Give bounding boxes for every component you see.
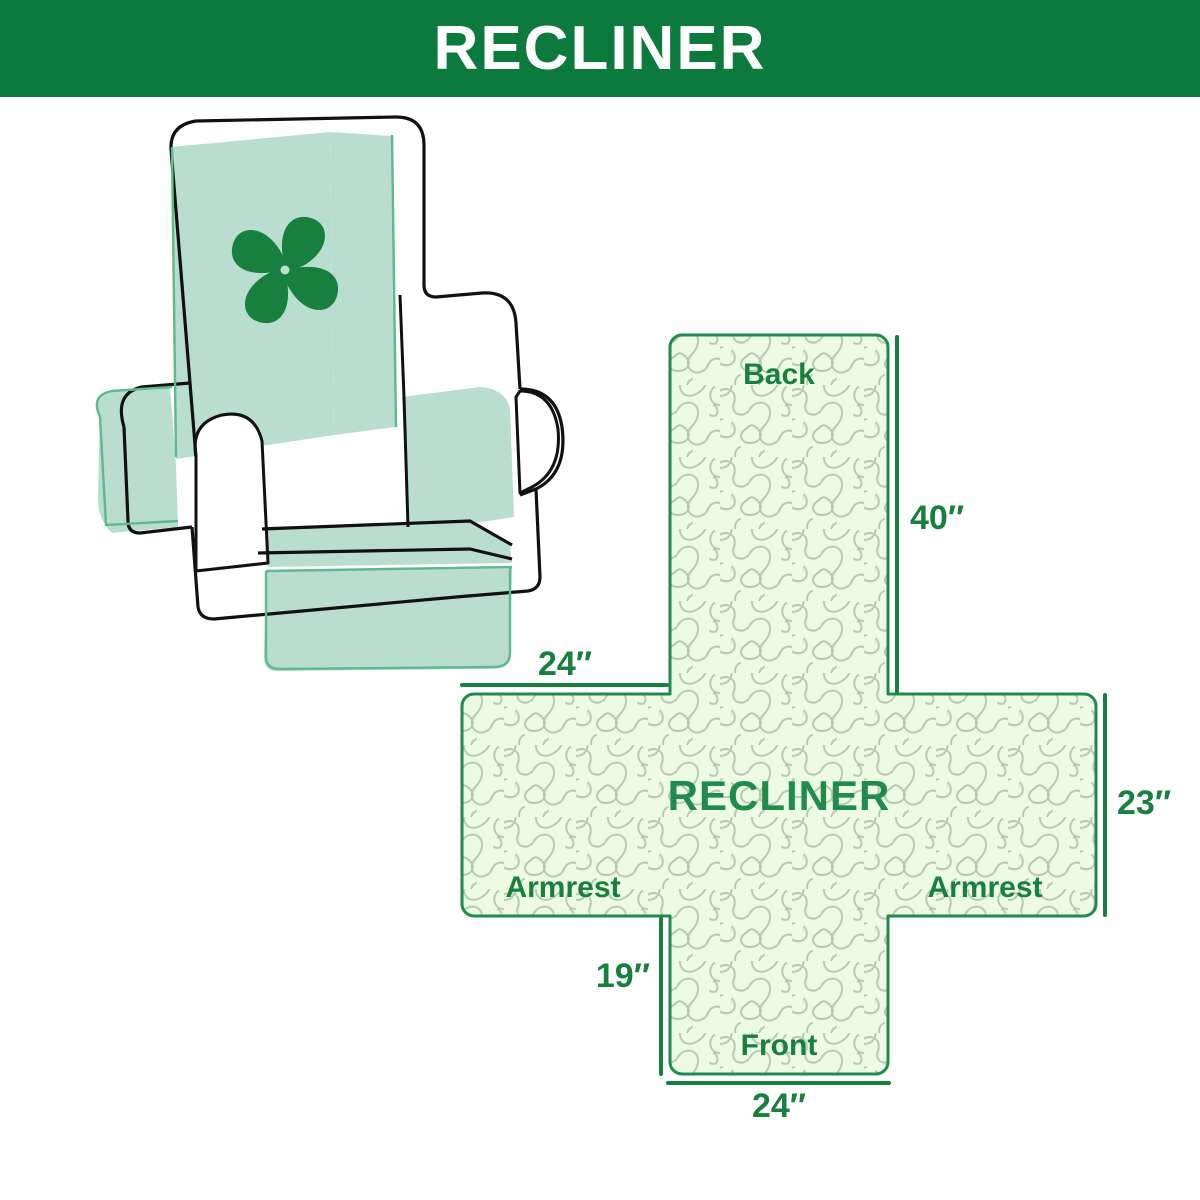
- section-label-armrest-right: Armrest: [927, 871, 1042, 904]
- dimension-label-front-height: 19″: [596, 957, 650, 995]
- dimension-label-arm-height: 23″: [1117, 784, 1171, 822]
- section-label-armrest-left: Armrest: [505, 871, 620, 904]
- section-label-front: Front: [741, 1029, 818, 1062]
- header-banner: RECLINER: [0, 0, 1200, 97]
- dimension-label-front-width: 24″: [752, 1087, 806, 1125]
- pattern-center-label: RECLINER: [668, 772, 891, 819]
- page-title: RECLINER: [434, 18, 767, 80]
- slipcover-cross-outline: [462, 335, 1096, 1074]
- dimension-label-back-height: 40″: [910, 499, 964, 537]
- dimension-label-arm-left-width: 24″: [538, 645, 592, 683]
- diagram-area: Back Armrest Armrest Front RECLINER 40″ …: [0, 97, 1200, 1200]
- slipcover-pattern-diagram: Back Armrest Armrest Front RECLINER 40″ …: [0, 97, 1200, 1200]
- section-label-back: Back: [743, 358, 815, 391]
